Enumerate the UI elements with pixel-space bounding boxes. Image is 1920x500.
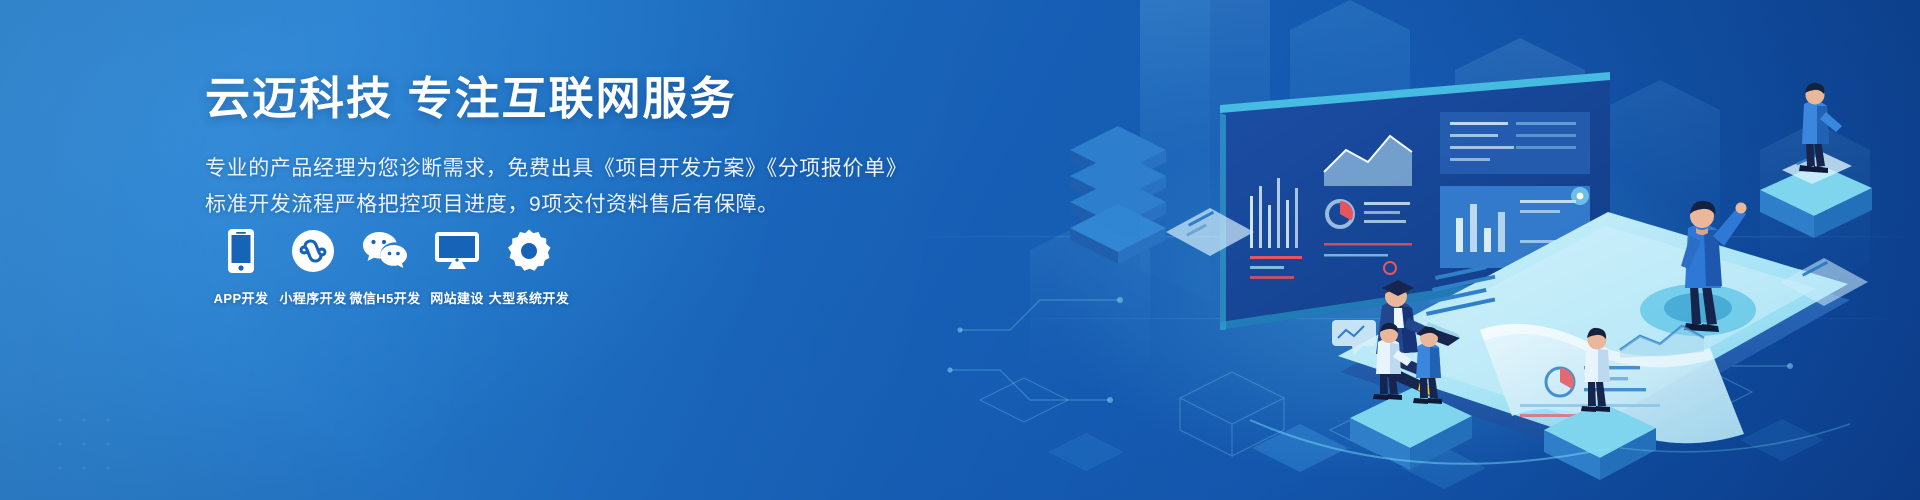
service-label: 大型系统开发 — [489, 288, 569, 307]
standing-person-pointing — [1681, 201, 1747, 332]
smartphone-platform — [1338, 212, 1850, 452]
service-label: APP开发 — [214, 288, 269, 307]
seated-person-laptop — [1376, 280, 1460, 396]
person-with-tablet — [1760, 83, 1872, 238]
service-label: 小程序开发 — [279, 288, 346, 307]
service-label: 网站建设 — [430, 288, 484, 307]
service-list: APP开发 小程序开发 — [205, 228, 565, 307]
mobile-phone-icon — [218, 228, 264, 274]
standing-person-right — [1544, 328, 1656, 480]
gear-icon — [506, 228, 552, 274]
service-item-app[interactable]: APP开发 — [205, 228, 277, 307]
mini-program-icon — [290, 228, 336, 274]
page-title: 云迈科技 专注互联网服务 — [205, 72, 965, 125]
subtitle-line-1: 专业的产品经理为您诊断需求，免费出具《项目开发方案》《分项报价单》 — [205, 151, 965, 187]
server-stack — [1070, 126, 1166, 264]
service-item-large-system[interactable]: 大型系统开发 — [493, 228, 565, 307]
service-label: 微信H5开发 — [349, 288, 420, 307]
subtitle-line-2: 标准开发流程严格把控项目进度，9项交付资料售后有保障。 — [205, 187, 965, 223]
service-item-website[interactable]: 网站建设 — [421, 228, 493, 307]
hero-text-block: 云迈科技 专注互联网服务 专业的产品经理为您诊断需求，免费出具《项目开发方案》《… — [205, 72, 965, 223]
dashboard-screen — [1220, 72, 1610, 330]
floating-chart-panels — [1166, 208, 1868, 306]
flowing-report-paper — [1426, 265, 1744, 443]
two-people-talking — [1332, 320, 1472, 470]
service-item-wechat-h5[interactable]: 微信H5开发 — [349, 228, 421, 307]
hero-illustration — [920, 0, 1920, 500]
hero-banner: 云迈科技 专注互联网服务 专业的产品经理为您诊断需求，免费出具《项目开发方案》《… — [0, 0, 1920, 500]
service-item-mini-program[interactable]: 小程序开发 — [277, 228, 349, 307]
wechat-bubbles-icon — [362, 228, 408, 274]
monitor-icon — [434, 228, 480, 274]
